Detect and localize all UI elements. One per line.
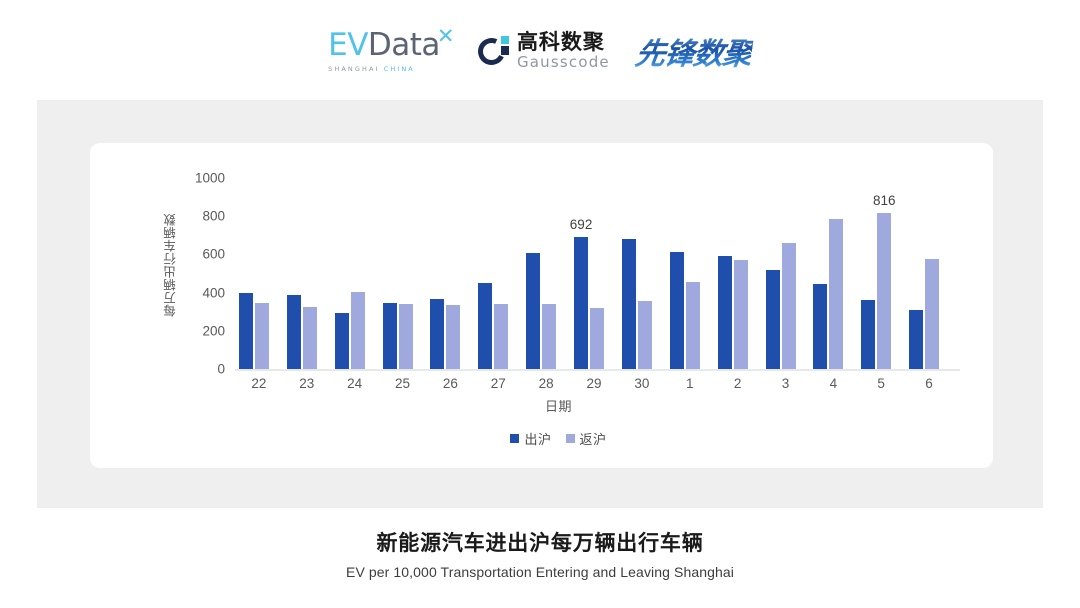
- bar-返沪-4[interactable]: [829, 219, 843, 369]
- gausscode-name-en: Gausscode: [517, 55, 610, 70]
- bar-返沪-24[interactable]: [351, 292, 365, 369]
- gausscode-square-dark: [501, 46, 509, 55]
- y-axis-title: 每万辆出行车辆数: [162, 185, 180, 345]
- bar-出沪-23[interactable]: [287, 295, 301, 369]
- bar-出沪-28[interactable]: [526, 253, 540, 369]
- evdata-data-text: Data: [368, 27, 440, 63]
- bar-出沪-2[interactable]: [718, 256, 732, 369]
- x-axis-tick-label: 2: [734, 376, 742, 391]
- bar-出沪-30[interactable]: [622, 239, 636, 369]
- gausscode-square-accent: [501, 36, 509, 44]
- x-axis-tick-label: 29: [586, 376, 601, 391]
- x-axis-tick-label: 6: [925, 376, 933, 391]
- x-axis-tick-label: 26: [443, 376, 458, 391]
- bar-group: [235, 178, 283, 369]
- plot-area: 692816: [235, 178, 953, 369]
- bar-group: [283, 178, 331, 369]
- y-axis-tick-label: 400: [202, 285, 225, 300]
- bar-返沪-27[interactable]: [494, 304, 508, 369]
- y-axis-tick-label: 800: [202, 209, 225, 224]
- bar-group: [426, 178, 474, 369]
- evdata-tagline: SHANGHAI CHINA: [328, 65, 415, 73]
- bar-group: [809, 178, 857, 369]
- bar-group: [331, 178, 379, 369]
- bar-出沪-25[interactable]: [383, 303, 397, 369]
- x-axis-tick-label: 24: [347, 376, 362, 391]
- bar-group: [762, 178, 810, 369]
- y-axis-tick-label: 0: [217, 362, 225, 377]
- legend-swatch-icon: [510, 434, 519, 443]
- legend-label: 出沪: [524, 429, 551, 448]
- bar-group: [714, 178, 762, 369]
- bar-出沪-4[interactable]: [813, 284, 827, 369]
- bar-出沪-5[interactable]: [861, 300, 875, 369]
- x-axis-tick-label: 23: [299, 376, 314, 391]
- legend-item-出沪[interactable]: 出沪: [510, 429, 551, 448]
- x-axis-tick-label: 1: [686, 376, 694, 391]
- caption-title-en: EV per 10,000 Transportation Entering an…: [0, 562, 1080, 582]
- bar-出沪-24[interactable]: [335, 313, 349, 369]
- bar-返沪-23[interactable]: [303, 307, 317, 369]
- evdata-logo: EVData ✕ SHANGHAI CHINA: [328, 30, 452, 73]
- bar-group: [379, 178, 427, 369]
- bar-返沪-29[interactable]: [590, 308, 604, 369]
- bar-出沪-27[interactable]: [478, 283, 492, 369]
- bar-返沪-6[interactable]: [925, 259, 939, 369]
- chart-card: 每万辆出行车辆数 02004006008001000 692816 222324…: [90, 143, 993, 468]
- y-axis-tick-label: 200: [202, 323, 225, 338]
- gausscode-mark-icon: [478, 35, 510, 67]
- bar-group: [570, 178, 618, 369]
- x-axis-tick-label: 25: [395, 376, 410, 391]
- legend-label: 返沪: [580, 429, 607, 448]
- logo-bar: EVData ✕ SHANGHAI CHINA 高科数聚 Gausscode 先…: [0, 22, 1080, 80]
- evdata-ev-text: EV: [328, 27, 368, 63]
- evdata-tagline-city: SHANGHAI: [328, 65, 384, 73]
- y-axis-ticks: 02004006008001000: [185, 143, 225, 468]
- x-axis-baseline: [235, 369, 960, 371]
- bar-返沪-5[interactable]: [877, 213, 891, 369]
- bar-返沪-26[interactable]: [446, 305, 460, 369]
- x-axis-ticks: 222324252627282930123456: [235, 376, 953, 396]
- caption-title-cn: 新能源汽车进出沪每万辆出行车辆: [0, 530, 1080, 558]
- x-axis-tick-label: 5: [877, 376, 885, 391]
- bar-group: [618, 178, 666, 369]
- caption-block: 新能源汽车进出沪每万辆出行车辆 EV per 10,000 Transporta…: [0, 530, 1080, 582]
- x-axis-tick-label: 27: [491, 376, 506, 391]
- legend-item-返沪[interactable]: 返沪: [566, 429, 607, 448]
- bar-group: [666, 178, 714, 369]
- bar-group: [905, 178, 953, 369]
- x-axis-tick-label: 3: [782, 376, 790, 391]
- evdata-tagline-country: CHINA: [384, 65, 415, 73]
- bar-value-label: 692: [570, 217, 593, 232]
- chart-legend: 出沪返沪: [90, 429, 993, 448]
- x-axis-title: 日期: [90, 396, 993, 415]
- x-axis-tick-label: 30: [634, 376, 649, 391]
- y-axis-tick-label: 1000: [195, 171, 225, 186]
- gausscode-wordmark: 高科数聚 Gausscode: [517, 32, 610, 70]
- bar-出沪-3[interactable]: [766, 270, 780, 369]
- bar-出沪-6[interactable]: [909, 310, 923, 369]
- bar-group: [522, 178, 570, 369]
- gausscode-logo: 高科数聚 Gausscode: [478, 32, 610, 70]
- y-axis-tick-label: 600: [202, 247, 225, 262]
- bar-返沪-3[interactable]: [782, 243, 796, 369]
- gausscode-name-cn: 高科数聚: [517, 32, 610, 53]
- bar-出沪-26[interactable]: [430, 299, 444, 369]
- bar-chart: 每万辆出行车辆数 02004006008001000 692816 222324…: [90, 143, 993, 468]
- x-axis-tick-label: 28: [539, 376, 554, 391]
- bar-group: [474, 178, 522, 369]
- x-axis-tick-label: 4: [830, 376, 838, 391]
- bar-返沪-28[interactable]: [542, 304, 556, 369]
- evdata-cross-icon: ✕: [437, 26, 454, 47]
- bar-返沪-30[interactable]: [638, 301, 652, 369]
- bar-出沪-1[interactable]: [670, 252, 684, 369]
- legend-swatch-icon: [566, 434, 575, 443]
- bar-返沪-1[interactable]: [686, 282, 700, 369]
- bar-返沪-22[interactable]: [255, 303, 269, 369]
- xianfeng-logo: 先锋数聚: [633, 29, 755, 73]
- bar-value-label: 816: [873, 193, 896, 208]
- bar-返沪-2[interactable]: [734, 260, 748, 369]
- bar-出沪-29[interactable]: [574, 237, 588, 369]
- evdata-wordmark: EVData ✕: [328, 30, 440, 61]
- bar-返沪-25[interactable]: [399, 304, 413, 369]
- bar-出沪-22[interactable]: [239, 293, 253, 369]
- x-axis-tick-label: 22: [251, 376, 266, 391]
